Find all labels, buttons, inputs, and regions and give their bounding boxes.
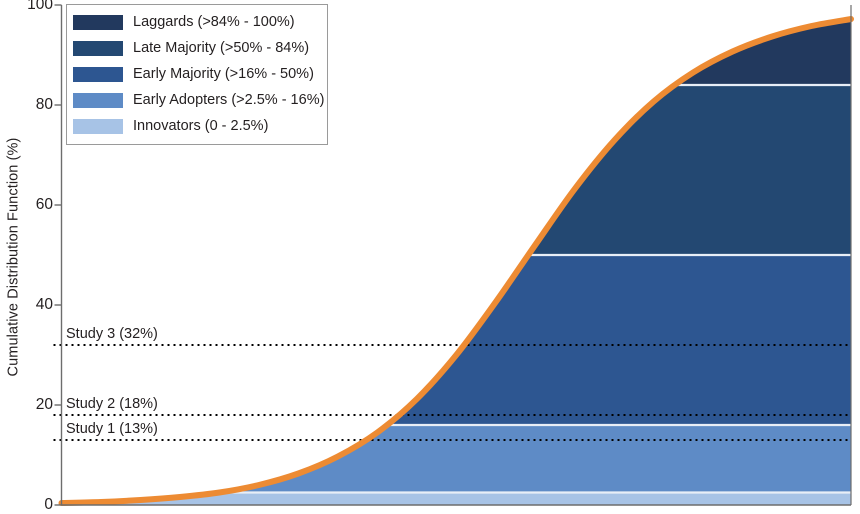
legend-label: Early Majority (>16% - 50%) xyxy=(133,66,314,82)
legend-label: Early Adopters (>2.5% - 16%) xyxy=(133,92,324,108)
legend-swatch xyxy=(73,67,123,82)
legend-swatch xyxy=(73,41,123,56)
legend-swatch xyxy=(73,93,123,108)
legend-label: Laggards (>84% - 100%) xyxy=(133,14,295,30)
band-early-adopters xyxy=(62,425,852,493)
study-label-1: Study 1 (13%) xyxy=(66,422,158,437)
legend-label: Late Majority (>50% - 84%) xyxy=(133,40,309,56)
chart-figure: Cumulative Distribution Function (%) 020… xyxy=(0,0,860,514)
study-label-2: Study 2 (18%) xyxy=(66,397,158,412)
legend-label: Innovators (0 - 2.5%) xyxy=(133,118,268,134)
study-label-3: Study 3 (32%) xyxy=(66,327,158,342)
chart-legend: Laggards (>84% - 100%)Late Majority (>50… xyxy=(66,4,328,145)
legend-item-laggards: Laggards (>84% - 100%) xyxy=(73,9,321,35)
legend-swatch xyxy=(73,15,123,30)
legend-item-early-adopters: Early Adopters (>2.5% - 16%) xyxy=(73,87,321,113)
legend-item-innovators: Innovators (0 - 2.5%) xyxy=(73,113,321,139)
band-early-majority xyxy=(62,255,852,425)
legend-item-early-majority: Early Majority (>16% - 50%) xyxy=(73,61,321,87)
legend-item-late-majority: Late Majority (>50% - 84%) xyxy=(73,35,321,61)
legend-swatch xyxy=(73,119,123,134)
